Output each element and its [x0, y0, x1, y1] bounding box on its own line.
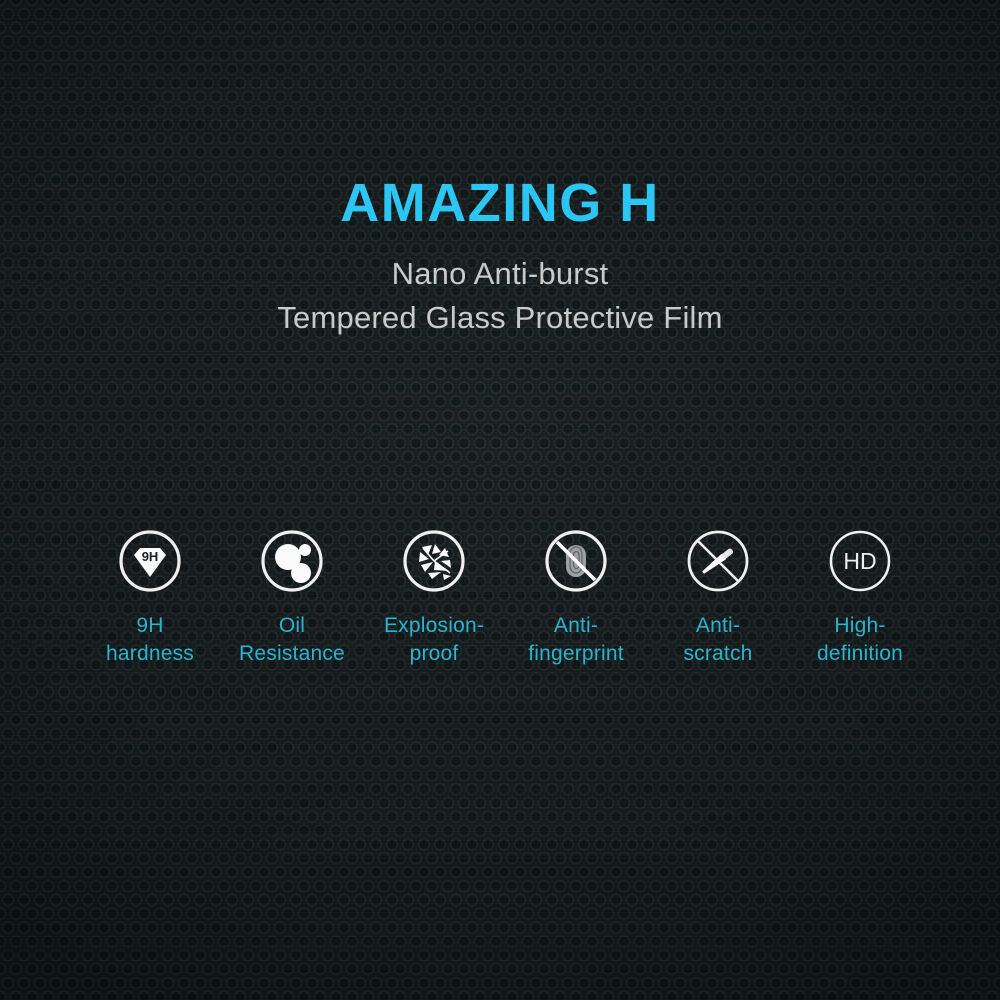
feature-label-line-1: Anti- [696, 614, 740, 637]
feature-label-anti-scratch: Anti- scratch [683, 612, 752, 667]
feature-label-9h-hardness: 9H hardness [106, 612, 194, 667]
subtitle-line-1: Nano Anti-burst [0, 252, 1000, 296]
oil-droplets-icon [259, 528, 325, 594]
vignette-layer [0, 0, 1000, 1000]
feature-label-line-1: High- [834, 614, 885, 637]
diamond-9h-icon-text: 9H [142, 549, 159, 564]
hd-badge-icon: HD [827, 528, 893, 594]
feature-item-explosion-proof: Explosion- proof [364, 528, 504, 667]
feature-label-line-2: Resistance [239, 640, 345, 668]
feature-label-anti-fingerprint: Anti- fingerprint [528, 612, 624, 667]
page-title: AMAZING H [0, 175, 1000, 232]
feature-item-anti-scratch: Anti- scratch [648, 528, 788, 667]
noise-texture-layer [0, 0, 1000, 1000]
explosion-burst-icon [401, 528, 467, 594]
feature-label-explosion-proof: Explosion- proof [384, 612, 484, 667]
feature-label-high-definition: High- definition [817, 612, 903, 667]
headline-block: AMAZING H Nano Anti-burst Tempered Glass… [0, 175, 1000, 340]
subtitle: Nano Anti-burst Tempered Glass Protectiv… [0, 252, 1000, 340]
honeycomb-cell-layer [0, 0, 1000, 1000]
feature-label-line-2: definition [817, 640, 903, 668]
feature-label-line-1: Oil [279, 614, 305, 637]
subtitle-line-2: Tempered Glass Protective Film [0, 296, 1000, 340]
feature-label-line-2: fingerprint [528, 640, 624, 668]
diamond-9h-icon: 9H [117, 528, 183, 594]
knife-slash-icon [685, 528, 751, 594]
feature-label-line-2: proof [384, 640, 484, 668]
feature-label-line-2: scratch [683, 640, 752, 668]
honeycomb-texture-layer [0, 0, 1000, 1000]
feature-label-line-2: hardness [106, 640, 194, 668]
hd-badge-icon-text: HD [843, 548, 876, 574]
product-poster: AMAZING H Nano Anti-burst Tempered Glass… [0, 0, 1000, 1000]
feature-item-high-definition: HD High- definition [790, 528, 930, 667]
feature-item-oil-resistance: Oil Resistance [222, 528, 362, 667]
feature-list: 9H 9H hardness Oil Resistance [80, 528, 930, 667]
feature-label-oil-resistance: Oil Resistance [239, 612, 345, 667]
feature-item-anti-fingerprint: Anti- fingerprint [506, 528, 646, 667]
feature-label-line-1: 9H [136, 614, 163, 637]
feature-label-line-1: Anti- [554, 614, 598, 637]
feature-item-9h-hardness: 9H 9H hardness [80, 528, 220, 667]
feature-label-line-1: Explosion- [384, 614, 484, 637]
fingerprint-slash-icon [543, 528, 609, 594]
